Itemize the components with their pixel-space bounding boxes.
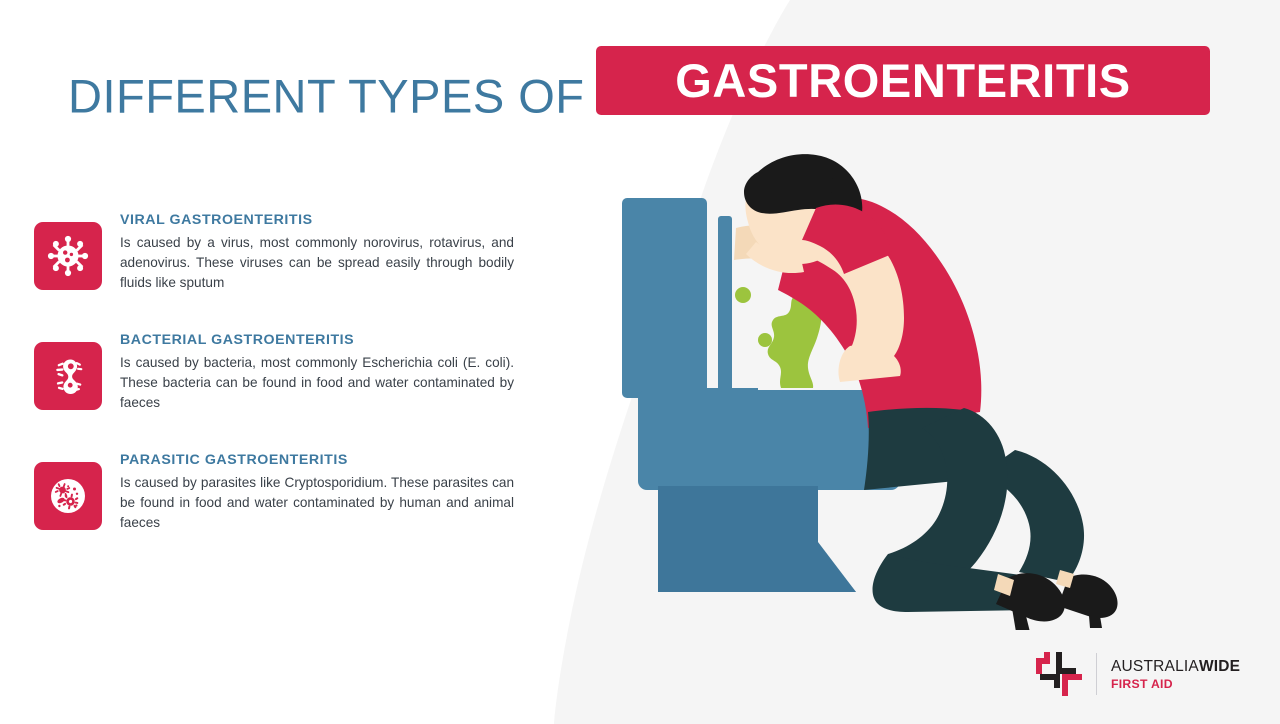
toilet-seat-lid <box>718 216 732 392</box>
list-item-text: VIRAL GASTROENTERITIS Is caused by a vir… <box>120 212 514 293</box>
bacteria-icon <box>46 354 90 398</box>
virus-icon-badge <box>34 222 102 290</box>
list-item-body: Is caused by parasites like Cryptosporid… <box>120 473 514 533</box>
list-item-body: Is caused by a virus, most commonly noro… <box>120 233 514 293</box>
list-item: BACTERIAL GASTROENTERITIS Is caused by b… <box>34 332 524 413</box>
list-item-text: BACTERIAL GASTROENTERITIS Is caused by b… <box>120 332 514 413</box>
list-item: VIRAL GASTROENTERITIS Is caused by a vir… <box>34 212 524 293</box>
vomit-droplet <box>782 322 794 334</box>
list-item: PARASITIC GASTROENTERITIS Is caused by p… <box>34 452 524 533</box>
toilet-tank <box>622 198 707 398</box>
logo-text-australia: AUSTRALIA <box>1111 658 1199 675</box>
logo-divider <box>1096 653 1097 695</box>
page-title-prefix: DIFFERENT TYPES OF <box>68 69 585 124</box>
list-item-title: VIRAL GASTROENTERITIS <box>120 212 514 228</box>
toilet-base-flare <box>818 542 856 592</box>
toilet-bowl <box>638 390 900 490</box>
vomit-droplet <box>735 287 751 303</box>
illustration-person-vomiting-into-toilet <box>560 150 1280 630</box>
parasite-icon <box>46 474 90 518</box>
list-item-text: PARASITIC GASTROENTERITIS Is caused by p… <box>120 452 514 533</box>
page-title-banner-text: GASTROENTERITIS <box>675 53 1131 108</box>
australia-wide-cross-icon <box>1034 650 1084 698</box>
list-item-title: BACTERIAL GASTROENTERITIS <box>120 332 514 348</box>
page-header: DIFFERENT TYPES OF GASTROENTERITIS <box>0 46 1280 146</box>
page-title-banner: GASTROENTERITIS <box>596 46 1210 115</box>
vomit-droplet <box>758 333 772 347</box>
list-item-body: Is caused by bacteria, most commonly Esc… <box>120 353 514 413</box>
bacteria-icon-badge <box>34 342 102 410</box>
logo-text-wide: WIDE <box>1199 658 1240 675</box>
list-item-title: PARASITIC GASTROENTERITIS <box>120 452 514 468</box>
parasite-icon-badge <box>34 462 102 530</box>
logo-wordmark: AUSTRALIAWIDE FIRST AID <box>1111 657 1240 692</box>
toilet-base-block <box>658 486 818 592</box>
infographic-page: DIFFERENT TYPES OF GASTROENTERITIS <box>0 0 1280 724</box>
logo-line-secondary: FIRST AID <box>1111 676 1240 692</box>
logo-line-primary: AUSTRALIAWIDE <box>1111 657 1240 676</box>
virus-icon <box>46 234 90 278</box>
brand-logo[interactable]: AUSTRALIAWIDE FIRST AID <box>1034 648 1248 700</box>
types-list: VIRAL GASTROENTERITIS Is caused by a vir… <box>34 212 524 572</box>
